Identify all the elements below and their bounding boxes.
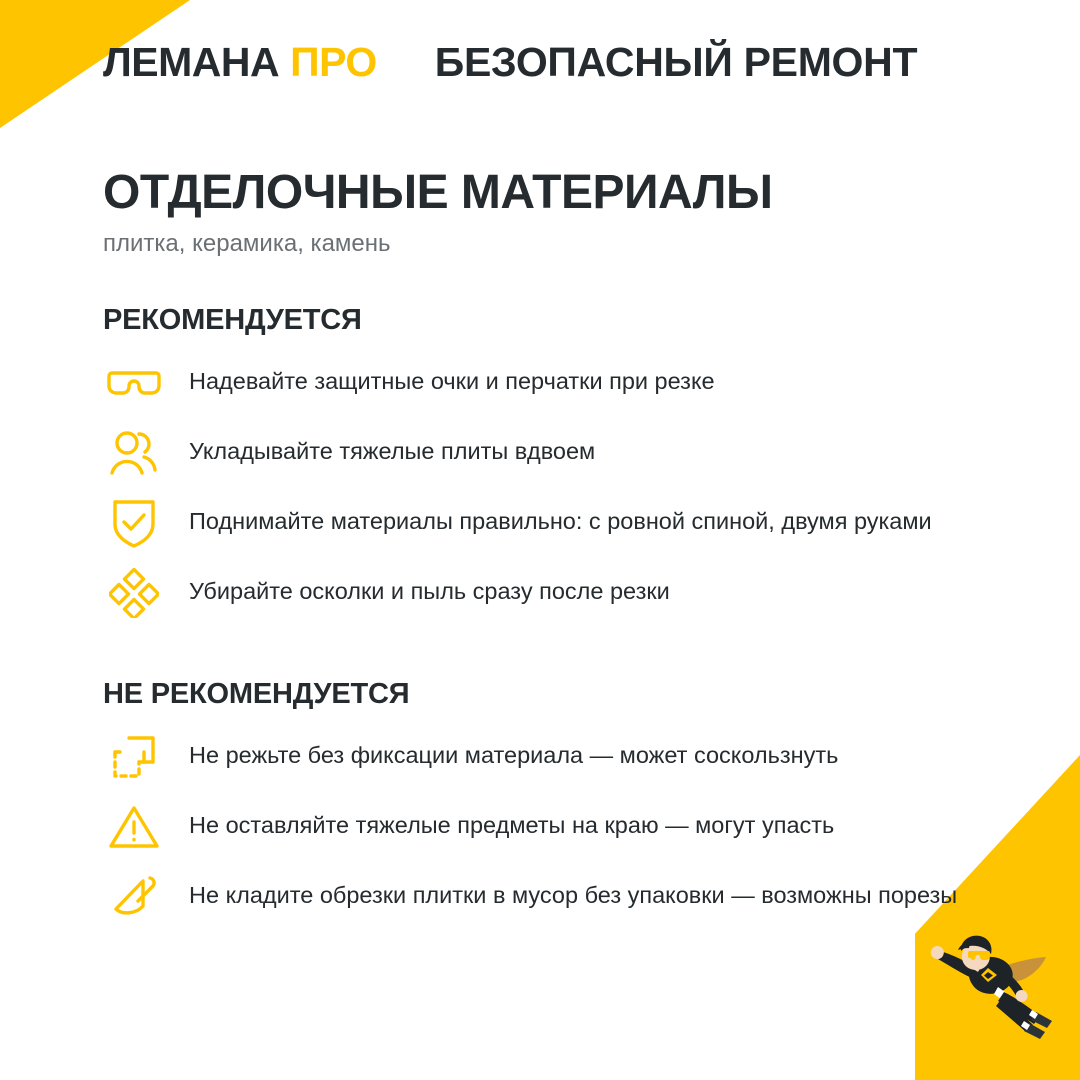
- unfixed-material-icon: [103, 729, 165, 785]
- list-item: Не кладите обрезки плитки в мусор без уп…: [103, 869, 983, 925]
- list-item-text: Не режьте без фиксации материала — может…: [189, 729, 838, 772]
- list-item-text: Укладывайте тяжелые плиты вдвоем: [189, 425, 595, 468]
- shield-check-icon: [103, 495, 165, 551]
- safety-goggles-icon: [103, 355, 165, 411]
- poster-canvas: ЛЕМАНА ПРО БЕЗОПАСНЫЙ РЕМОНТ ОТДЕЛОЧНЫЕ …: [0, 0, 1080, 1080]
- list-item: Укладывайте тяжелые плиты вдвоем: [103, 425, 983, 481]
- section-recommended: РЕКОМЕНДУЕТСЯ Надевайте защитные очки и …: [103, 305, 983, 621]
- main-content: ОТДЕЛОЧНЫЕ МАТЕРИАЛЫ плитка, керамика, к…: [103, 168, 983, 939]
- header-tagline: БЕЗОПАСНЫЙ РЕМОНТ: [435, 42, 917, 83]
- brand-logo: ЛЕМАНА ПРО: [103, 42, 377, 83]
- brand-logo-accent: ПРО: [290, 42, 377, 83]
- brand-logo-primary: ЛЕМАНА: [103, 42, 279, 83]
- list-item: Не режьте без фиксации материала — может…: [103, 729, 983, 785]
- warning-triangle-icon: [103, 799, 165, 855]
- diamond-cluster-icon: [103, 565, 165, 621]
- header: ЛЕМАНА ПРО БЕЗОПАСНЫЙ РЕМОНТ: [103, 42, 917, 83]
- section-heading-recommended: РЕКОМЕНДУЕТСЯ: [103, 305, 983, 337]
- recommended-list: Надевайте защитные очки и перчатки при р…: [103, 355, 983, 621]
- list-item: Надевайте защитные очки и перчатки при р…: [103, 355, 983, 411]
- two-people-icon: [103, 425, 165, 481]
- list-item: Не оставляйте тяжелые предметы на краю —…: [103, 799, 983, 855]
- flying-superhero-mascot-icon: [912, 924, 1062, 1042]
- not-recommended-list: Не режьте без фиксации материала — может…: [103, 729, 983, 925]
- list-item-text: Надевайте защитные очки и перчатки при р…: [189, 355, 715, 398]
- knife-blade-icon: [103, 869, 165, 925]
- list-item-text: Не кладите обрезки плитки в мусор без уп…: [189, 869, 957, 912]
- section-not-recommended: НЕ РЕКОМЕНДУЕТСЯ Не режьте без фиксации …: [103, 679, 983, 925]
- list-item-text: Не оставляйте тяжелые предметы на краю —…: [189, 799, 834, 842]
- page-subtitle: плитка, керамика, камень: [103, 230, 983, 259]
- list-item-text: Поднимайте материалы правильно: с ровной…: [189, 495, 932, 538]
- list-item: Убирайте осколки и пыль сразу после резк…: [103, 565, 983, 621]
- section-heading-not-recommended: НЕ РЕКОМЕНДУЕТСЯ: [103, 679, 983, 711]
- list-item-text: Убирайте осколки и пыль сразу после резк…: [189, 565, 670, 608]
- page-title: ОТДЕЛОЧНЫЕ МАТЕРИАЛЫ: [103, 168, 983, 218]
- list-item: Поднимайте материалы правильно: с ровной…: [103, 495, 983, 551]
